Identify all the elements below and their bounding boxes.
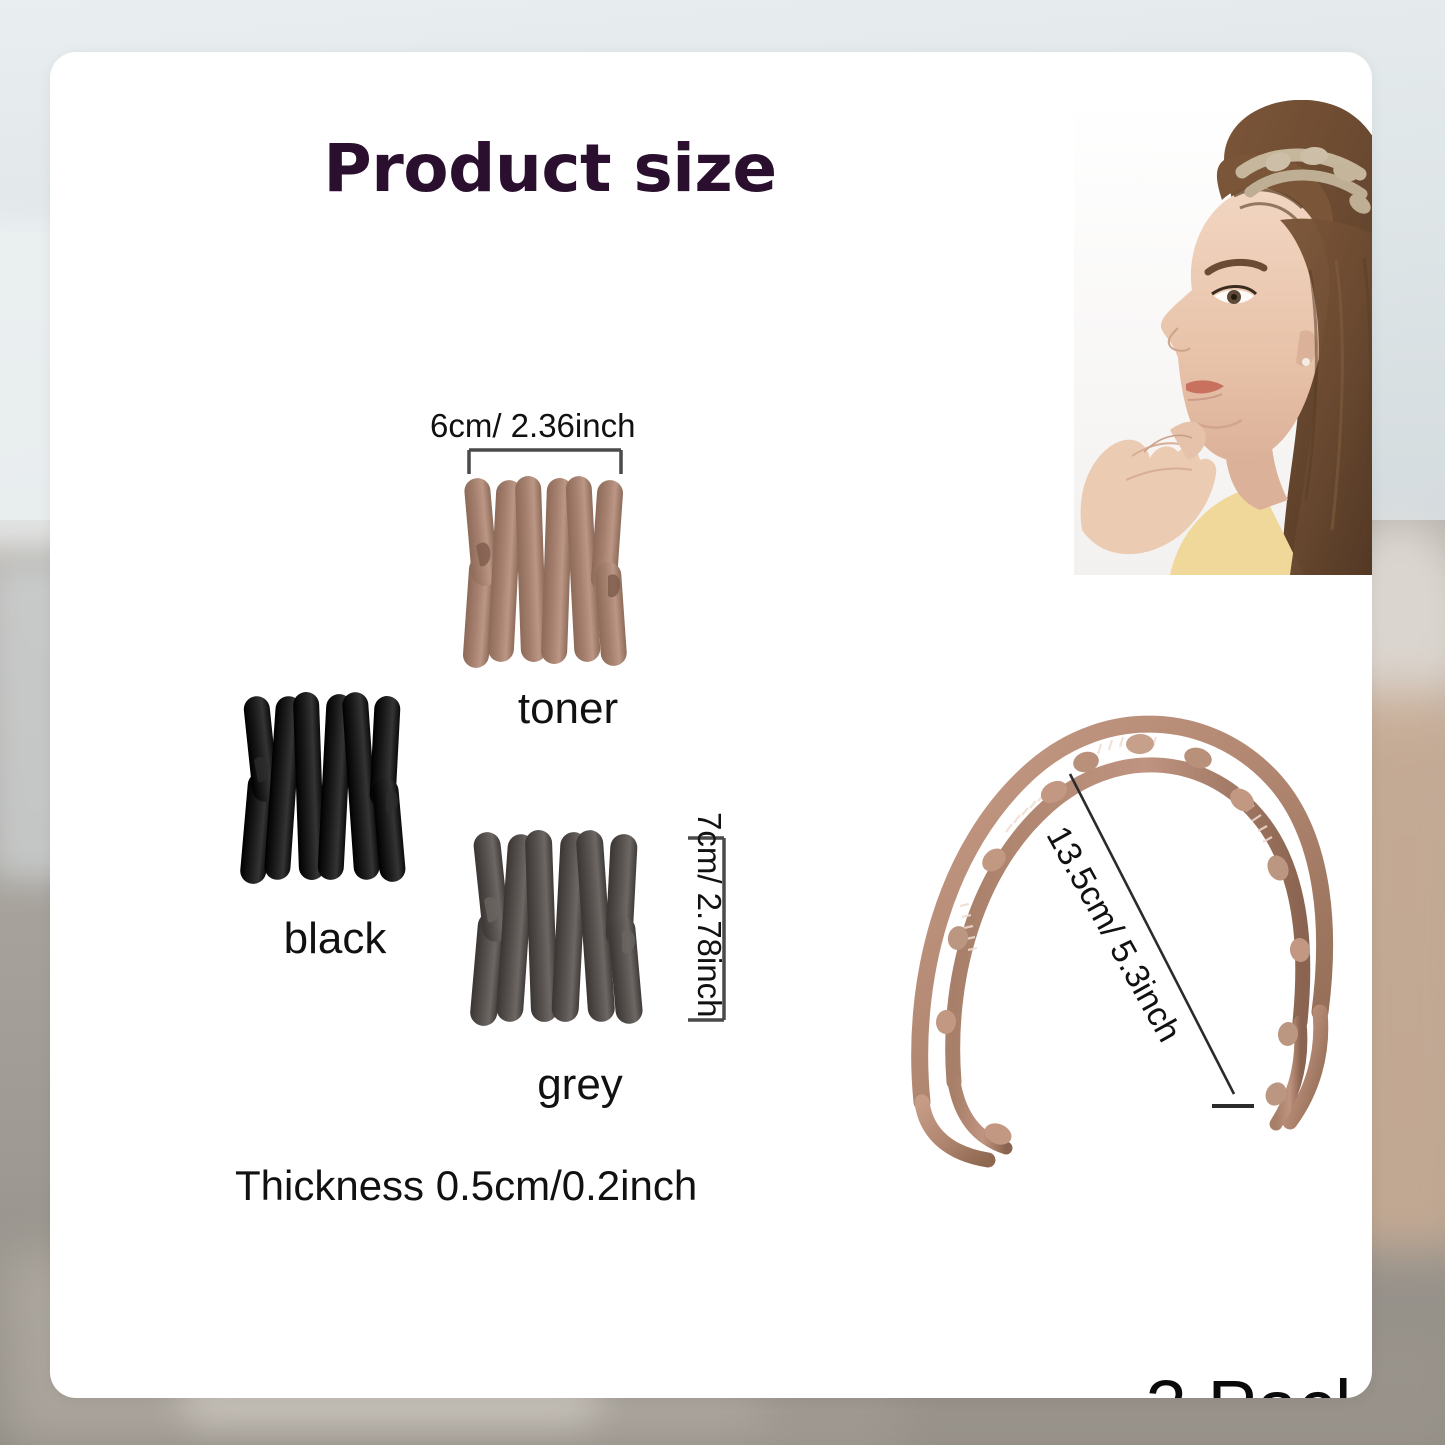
earring (1302, 358, 1310, 366)
page-title: Product size (50, 130, 1050, 207)
width-dimension-label: 6cm/ 2.36inch (430, 407, 635, 445)
thickness-note: Thickness 0.5cm/0.2inch (235, 1162, 697, 1210)
variant-label-toner: toner (478, 684, 658, 734)
product-card: Product size (50, 52, 1372, 1398)
pupil (1231, 294, 1237, 300)
model-photo (1074, 100, 1372, 575)
variant-label-black: black (240, 914, 430, 964)
variant-black-image (242, 688, 422, 888)
variant-toner-image (458, 470, 648, 670)
pack-badge: 3 Pack (1012, 1364, 1372, 1398)
height-dimension-label: 7cm/ 2.78inch (690, 812, 728, 1017)
product-infographic: Product size (0, 0, 1445, 1445)
variant-grey-image (470, 822, 660, 1032)
variant-label-grey: grey (490, 1060, 670, 1110)
